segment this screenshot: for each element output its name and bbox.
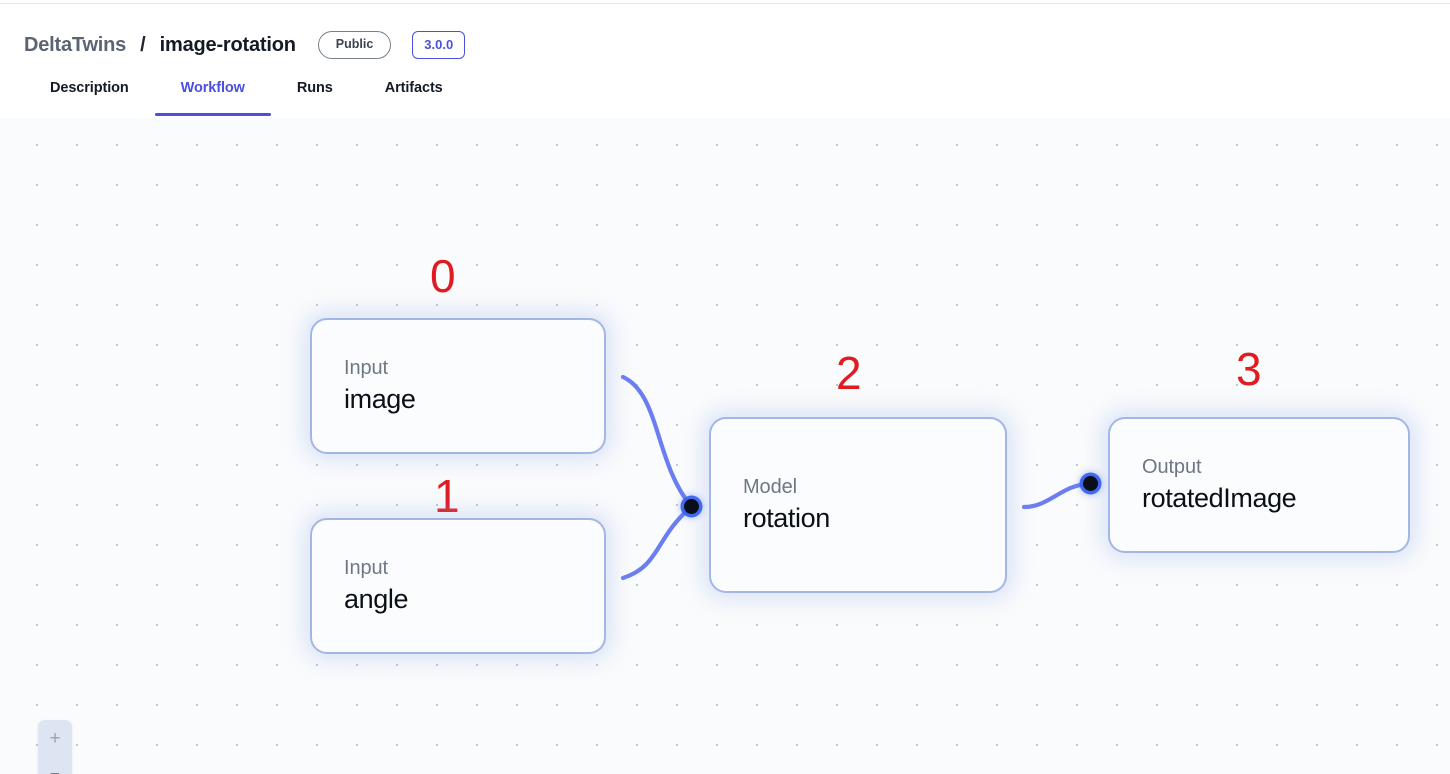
breadcrumb: DeltaTwins / image-rotation Public 3.0.0 [24, 30, 465, 60]
node-kind-label: Model [743, 476, 1005, 500]
tab-runs[interactable]: Runs [271, 80, 359, 116]
page-title: image-rotation [160, 34, 296, 57]
node-model-rotation[interactable]: Model rotation [709, 417, 1007, 593]
tab-description-label: Description [50, 80, 129, 96]
tab-active-indicator [155, 113, 271, 116]
page-header: DeltaTwins / image-rotation Public 3.0.0… [0, 4, 1450, 118]
connector-handle-model-input[interactable] [684, 499, 699, 514]
connector-handle-output-input[interactable] [1083, 476, 1098, 491]
node-title-label: rotatedImage [1142, 482, 1408, 514]
breadcrumb-org[interactable]: DeltaTwins [24, 34, 126, 57]
node-title-label: rotation [743, 502, 1005, 534]
node-index-label-0: 0 [430, 253, 456, 299]
node-kind-label: Input [344, 557, 604, 581]
node-input-angle[interactable]: Input angle [310, 518, 606, 654]
node-index-label-2: 2 [836, 350, 862, 396]
breadcrumb-separator: / [140, 34, 146, 57]
version-badge[interactable]: 3.0.0 [412, 31, 465, 59]
workflow-page: DeltaTwins / image-rotation Public 3.0.0… [0, 0, 1450, 774]
edge-image-to-model [623, 377, 691, 506]
zoom-out-button[interactable]: − [38, 756, 72, 774]
tab-runs-label: Runs [297, 80, 333, 96]
tab-description[interactable]: Description [24, 80, 155, 116]
edge-model-to-output [1024, 484, 1090, 507]
node-title-label: image [344, 383, 604, 415]
node-input-image[interactable]: Input image [310, 318, 606, 454]
workflow-canvas[interactable]: 0 1 2 3 Input image Input angle Model ro… [0, 118, 1450, 774]
tab-workflow-label: Workflow [181, 80, 245, 96]
node-index-label-3: 3 [1236, 346, 1262, 392]
node-kind-label: Input [344, 357, 604, 381]
zoom-in-button[interactable]: + [38, 720, 72, 756]
edge-angle-to-model [623, 507, 691, 578]
node-kind-label: Output [1142, 456, 1408, 480]
node-output-rotatedimage[interactable]: Output rotatedImage [1108, 417, 1410, 553]
node-index-label-1: 1 [434, 473, 460, 519]
tab-artifacts[interactable]: Artifacts [359, 80, 469, 116]
node-title-label: angle [344, 583, 604, 615]
zoom-controls: + − [38, 720, 72, 774]
visibility-badge: Public [318, 31, 392, 59]
tab-artifacts-label: Artifacts [385, 80, 443, 96]
tab-bar: Description Workflow Runs Artifacts [24, 80, 469, 122]
tab-workflow[interactable]: Workflow [155, 80, 271, 116]
